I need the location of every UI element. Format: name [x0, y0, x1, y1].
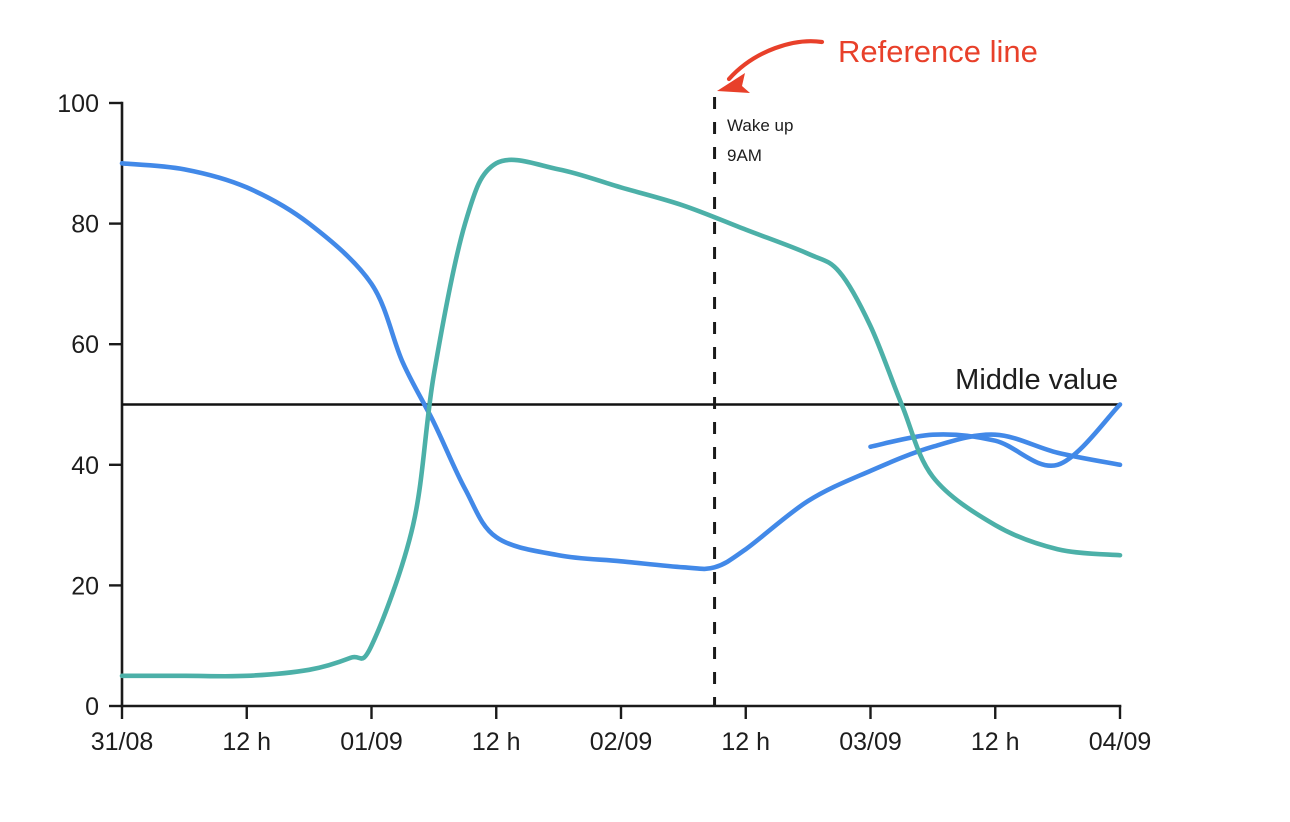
line-chart: 020406080100 31/0812 h01/0912 h02/0912 h…: [0, 0, 1290, 822]
x-tick-label: 12 h: [721, 728, 770, 756]
y-tick-label: 20: [71, 572, 99, 600]
x-tick-label: 02/09: [590, 728, 653, 756]
x-tick-label: 01/09: [340, 728, 403, 756]
x-tick-label: 04/09: [1089, 728, 1152, 756]
y-tick-label: 80: [71, 211, 99, 239]
wake-up-label-line2: 9AM: [727, 146, 762, 165]
chart-container: 020406080100 31/0812 h01/0912 h02/0912 h…: [0, 0, 1290, 822]
y-tick-label: 60: [71, 331, 99, 359]
reference-line-arrow-icon: [729, 41, 822, 79]
x-tick-label: 12 h: [971, 728, 1020, 756]
y-axis-ticks: 020406080100: [57, 90, 122, 721]
reference-line-callout-label: Reference line: [838, 34, 1038, 69]
y-tick-label: 0: [85, 693, 99, 721]
y-tick-label: 40: [71, 452, 99, 480]
x-tick-label: 12 h: [222, 728, 271, 756]
y-tick-label: 100: [57, 90, 99, 118]
x-axis-ticks: 31/0812 h01/0912 h02/0912 h03/0912 h04/0…: [91, 706, 1152, 756]
x-tick-label: 31/08: [91, 728, 154, 756]
middle-value-label: Middle value: [955, 364, 1118, 396]
x-tick-label: 12 h: [472, 728, 521, 756]
x-tick-label: 03/09: [839, 728, 902, 756]
series-group: [122, 160, 1120, 676]
wake-up-label-line1: Wake up: [727, 116, 793, 135]
series-line-teal-series: [122, 160, 1120, 676]
